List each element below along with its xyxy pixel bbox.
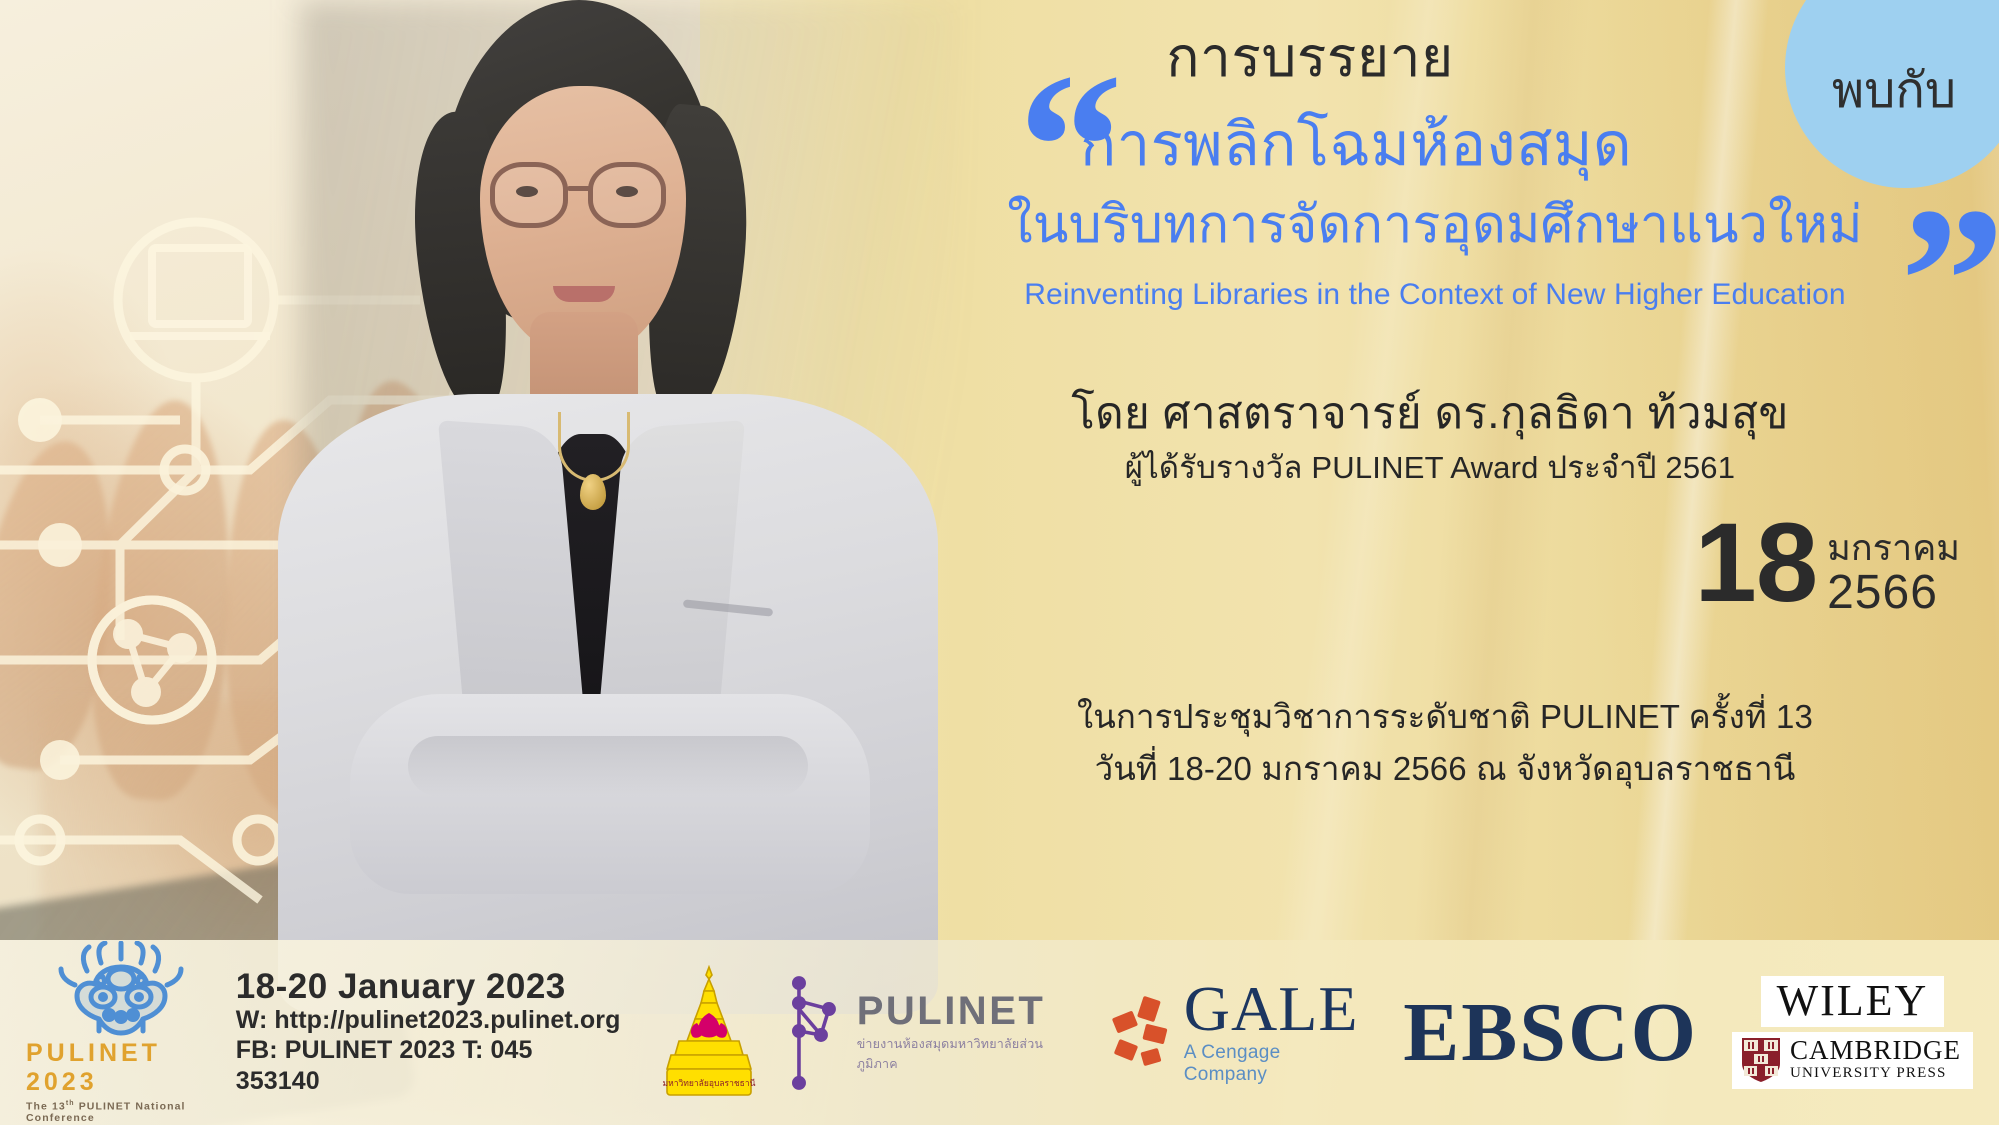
conference-contact-info: 18-20 January 2023 W: http://pulinet2023… xyxy=(236,969,623,1097)
pulinet-network-tagline: ข่ายงานห้องสมุดมหาวิทยาลัยส่วนภูมิภาค xyxy=(857,1034,1084,1074)
eyeglass-lens-right xyxy=(588,162,666,228)
event-date-block: 18 มกราคม 2566 xyxy=(1240,515,1960,620)
pulinet-network-wordmark: PULINET xyxy=(857,991,1084,1031)
wiley-logo: WILEY xyxy=(1761,976,1945,1026)
cambridge-subtitle: UNIVERSITY PRESS xyxy=(1790,1064,1961,1083)
footer-bar: PULINET 2023 The 13th PULINET National C… xyxy=(0,940,1999,1125)
eyeglass-lens-left xyxy=(490,162,568,228)
eyeglass-bridge xyxy=(567,186,591,191)
event-poster: พบกับ การบรรยาย “ ” การพลิกโฉมห้องสมุด ใ… xyxy=(0,0,1999,1125)
speaker-award: ผู้ได้รับรางวัล PULINET Award ประจำปี 25… xyxy=(900,442,1960,492)
pulinet-2023-wordmark: PULINET 2023 xyxy=(26,1039,216,1097)
cambridge-university-press-logo: CAMBRIDGE UNIVERSITY PRESS xyxy=(1732,1032,1973,1089)
conference-dates: 18-20 January 2023 xyxy=(236,969,623,1005)
speaker-name: โดย ศาสตราจารย์ ดร.กุลธิดา ท้วมสุข xyxy=(900,378,1960,448)
event-date-year: 2566 xyxy=(1827,567,1960,620)
conference-website[interactable]: W: http://pulinet2023.pulinet.org xyxy=(236,1005,623,1036)
ubu-logo-name: มหาวิทยาลัยอุบลราชธานี xyxy=(662,1078,755,1089)
gale-burst-icon xyxy=(1110,996,1174,1068)
speaker-portrait-photo xyxy=(258,0,948,994)
wiley-wordmark: WILEY xyxy=(1777,978,1929,1024)
necklace-pendant xyxy=(580,474,606,510)
pulinet-lion-mark-icon xyxy=(57,941,185,1037)
title-thai-line2: ในบริบทการจัดการอุดมศึกษาแนวใหม่ xyxy=(930,196,1940,255)
conference-social-phone: FB: PULINET 2023 T: 045 353140 xyxy=(236,1035,623,1096)
ubu-logo: มหาวิทยาลัยอุบลราชธานี xyxy=(649,965,769,1101)
necklace xyxy=(558,412,630,482)
venue-line-1: ในการประชุมวิชาการระดับชาติ PULINET ครั้… xyxy=(930,690,1960,743)
pulinet-2023-tagline: The 13th PULINET National Conference xyxy=(26,1100,216,1125)
arm-fold-shadow xyxy=(408,736,808,796)
cambridge-wordmark: CAMBRIDGE xyxy=(1790,1037,1961,1064)
ebsco-logo: EBSCO xyxy=(1403,991,1698,1075)
pulinet-network-mark-icon xyxy=(785,973,847,1093)
event-date-day: 18 xyxy=(1695,515,1818,611)
ubu-pagoda-icon: มหาวิทยาลัยอุบลราชธานี xyxy=(657,965,761,1101)
title-thai-line1: การพลิกโฉมห้องสมุด xyxy=(1080,112,1780,178)
gale-wordmark: GALE xyxy=(1184,979,1359,1040)
pulinet-network-logo: PULINET ข่ายงานห้องสมุดมหาวิทยาลัยส่วนภู… xyxy=(785,973,1084,1093)
mouth xyxy=(553,286,615,302)
wiley-cambridge-logos: WILEY xyxy=(1732,976,1973,1088)
meet-badge-label: พบกับ xyxy=(1832,51,1956,129)
pulinet-2023-logo: PULINET 2023 The 13th PULINET National C… xyxy=(26,941,216,1125)
gale-logo: GALE A Cengage Company xyxy=(1110,979,1369,1086)
title-english: Reinventing Libraries in the Context of … xyxy=(930,278,1940,312)
gale-tagline: A Cengage Company xyxy=(1184,1042,1369,1086)
venue-line-2: วันที่ 18-20 มกราคม 2566 ณ จังหวัดอุบลรา… xyxy=(930,742,1960,795)
cambridge-shield-icon xyxy=(1740,1036,1782,1084)
event-date-month: มกราคม xyxy=(1827,529,1960,567)
